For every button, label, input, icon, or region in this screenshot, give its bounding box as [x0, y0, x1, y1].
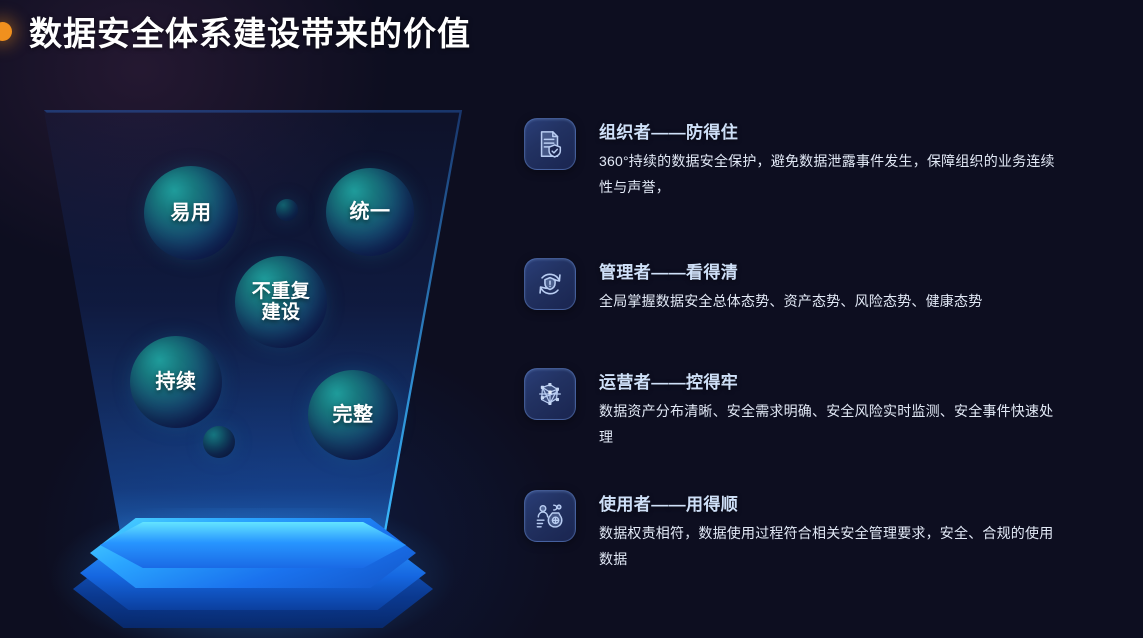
- feature-text-block: 使用者——用得顺数据权责相符，数据使用过程符合相关安全管理要求，安全、合规的使用…: [599, 490, 1059, 573]
- feature-description: 360°持续的数据安全保护，避免数据泄露事件发生，保障组织的业务连续性与声誉，: [599, 149, 1059, 201]
- illustration-stage: 易用统一不重复 建设持续完整: [18, 88, 488, 618]
- value-bubble: 持续: [130, 336, 222, 428]
- slide-header: 数据安全体系建设带来的价值: [0, 0, 1143, 62]
- value-bubble: 不重复 建设: [235, 256, 327, 348]
- feature-description: 数据资产分布清晰、安全需求明确、安全风险实时监测、安全事件快速处理: [599, 399, 1059, 451]
- pedestal-top-face: [100, 522, 406, 568]
- value-bubble-label: 完整: [333, 404, 374, 426]
- feature-item: 使用者——用得顺数据权责相符，数据使用过程符合相关安全管理要求，安全、合规的使用…: [524, 490, 1059, 573]
- value-bubble-label: 统一: [350, 201, 391, 223]
- value-bubble: 完整: [308, 370, 398, 460]
- feature-title: 使用者——用得顺: [599, 490, 1059, 515]
- page-title: 数据安全体系建设带来的价值: [29, 7, 471, 55]
- bullet-dot-icon: [0, 22, 12, 41]
- feature-title: 管理者——看得清: [599, 258, 982, 283]
- feature-item: 组织者——防得住360°持续的数据安全保护，避免数据泄露事件发生，保障组织的业务…: [524, 118, 1059, 201]
- refresh-cycle-shield-icon: [524, 258, 576, 310]
- feature-text-block: 管理者——看得清全局掌握数据安全总体态势、资产态势、风险态势、健康态势: [599, 258, 982, 315]
- network-nodes-icon: [524, 368, 576, 420]
- value-bubble: 统一: [326, 168, 414, 256]
- value-bubble-label: 持续: [156, 371, 197, 393]
- feature-text-block: 运营者——控得牢数据资产分布清晰、安全需求明确、安全风险实时监测、安全事件快速处…: [599, 368, 1059, 451]
- feature-description: 数据权责相符，数据使用过程符合相关安全管理要求，安全、合规的使用数据: [599, 521, 1059, 573]
- data-people-cluster-icon: [524, 490, 576, 542]
- value-bubble-label: 不重复 建设: [252, 281, 311, 324]
- feature-title: 运营者——控得牢: [599, 368, 1059, 393]
- decorative-bubble: [276, 199, 298, 221]
- feature-item: 管理者——看得清全局掌握数据安全总体态势、资产态势、风险态势、健康态势: [524, 258, 982, 315]
- value-bubble-label: 易用: [171, 202, 212, 224]
- feature-description: 全局掌握数据安全总体态势、资产态势、风险态势、健康态势: [599, 289, 982, 315]
- value-bubble: 易用: [144, 166, 238, 260]
- feature-item: 运营者——控得牢数据资产分布清晰、安全需求明确、安全风险实时监测、安全事件快速处…: [524, 368, 1059, 451]
- document-shield-icon: [524, 118, 576, 170]
- feature-text-block: 组织者——防得住360°持续的数据安全保护，避免数据泄露事件发生，保障组织的业务…: [599, 118, 1059, 201]
- decorative-bubble: [203, 426, 235, 458]
- feature-title: 组织者——防得住: [599, 118, 1059, 143]
